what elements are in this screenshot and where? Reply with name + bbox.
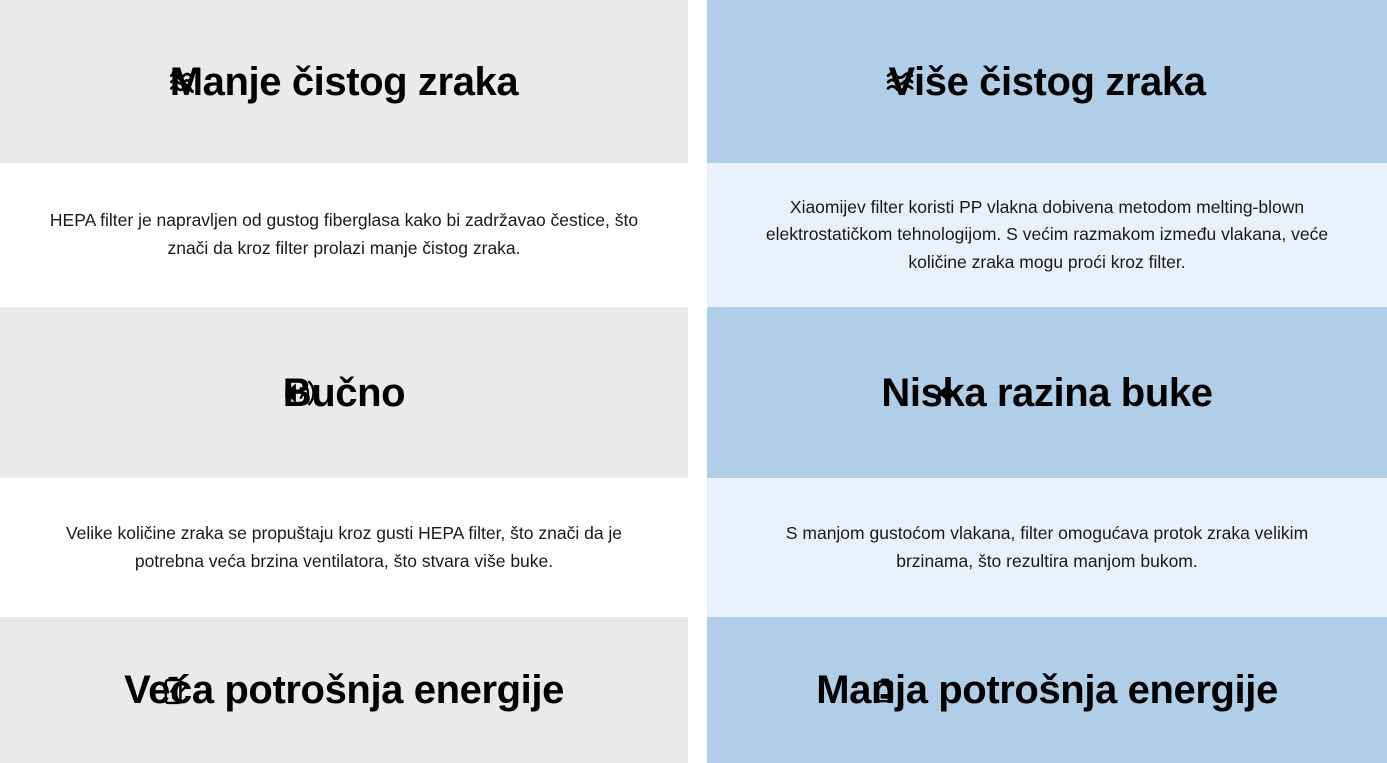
- right-section-1-body: Xiaomijev filter koristi PP vlakna dobiv…: [707, 163, 1387, 307]
- left-section-3-header: Veća potrošnja energije: [0, 617, 688, 763]
- left-body-2-text: Velike količine zraka se propuštaju kroz…: [49, 520, 639, 575]
- right-heading-1-wrapper: Više čistog zraka: [888, 59, 1205, 105]
- right-heading-1-text: Više čistog zraka: [888, 60, 1205, 104]
- left-heading-1-text: Manje čistog zraka: [170, 60, 518, 104]
- right-section-3-header: Manja potrošnja energije: [707, 617, 1387, 763]
- left-heading-3-wrapper: Veća potrošnja energije: [124, 667, 564, 713]
- right-heading-2-text: Niska razina buke: [881, 371, 1212, 415]
- left-body-1-text: HEPA filter je napravljen od gustog fibe…: [49, 207, 639, 262]
- comparison-column-left: Manje čistog zraka HEPA filter je naprav…: [0, 0, 688, 763]
- right-body-1-text: Xiaomijev filter koristi PP vlakna dobiv…: [747, 194, 1347, 277]
- left-section-2-body: Velike količine zraka se propuštaju kroz…: [0, 478, 688, 617]
- left-heading-3-text: Veća potrošnja energije: [124, 668, 564, 712]
- right-heading-2-wrapper: Niska razina buke: [881, 370, 1212, 416]
- left-heading-1-wrapper: Manje čistog zraka: [170, 59, 518, 105]
- right-section-2-header: Niska razina buke: [707, 307, 1387, 478]
- right-section-1-header: Više čistog zraka: [707, 0, 1387, 163]
- right-heading-3-wrapper: Manja potrošnja energije: [816, 667, 1278, 713]
- right-section-2-body: S manjom gustoćom vlakana, filter omoguć…: [707, 478, 1387, 617]
- right-body-2-text: S manjom gustoćom vlakana, filter omoguć…: [747, 520, 1347, 575]
- column-divider-gap: [688, 0, 707, 763]
- comparison-grid: Manje čistog zraka HEPA filter je naprav…: [0, 0, 1387, 763]
- left-heading-2-wrapper: Bučno: [283, 370, 405, 416]
- left-heading-2-text: Bučno: [283, 371, 405, 415]
- comparison-column-right: Više čistog zraka Xiaomijev filter koris…: [707, 0, 1387, 763]
- left-section-2-header: Bučno: [0, 307, 688, 478]
- right-heading-3-text: Manja potrošnja energije: [816, 668, 1278, 712]
- left-section-1-header: Manje čistog zraka: [0, 0, 688, 163]
- left-section-1-body: HEPA filter je napravljen od gustog fibe…: [0, 163, 688, 307]
